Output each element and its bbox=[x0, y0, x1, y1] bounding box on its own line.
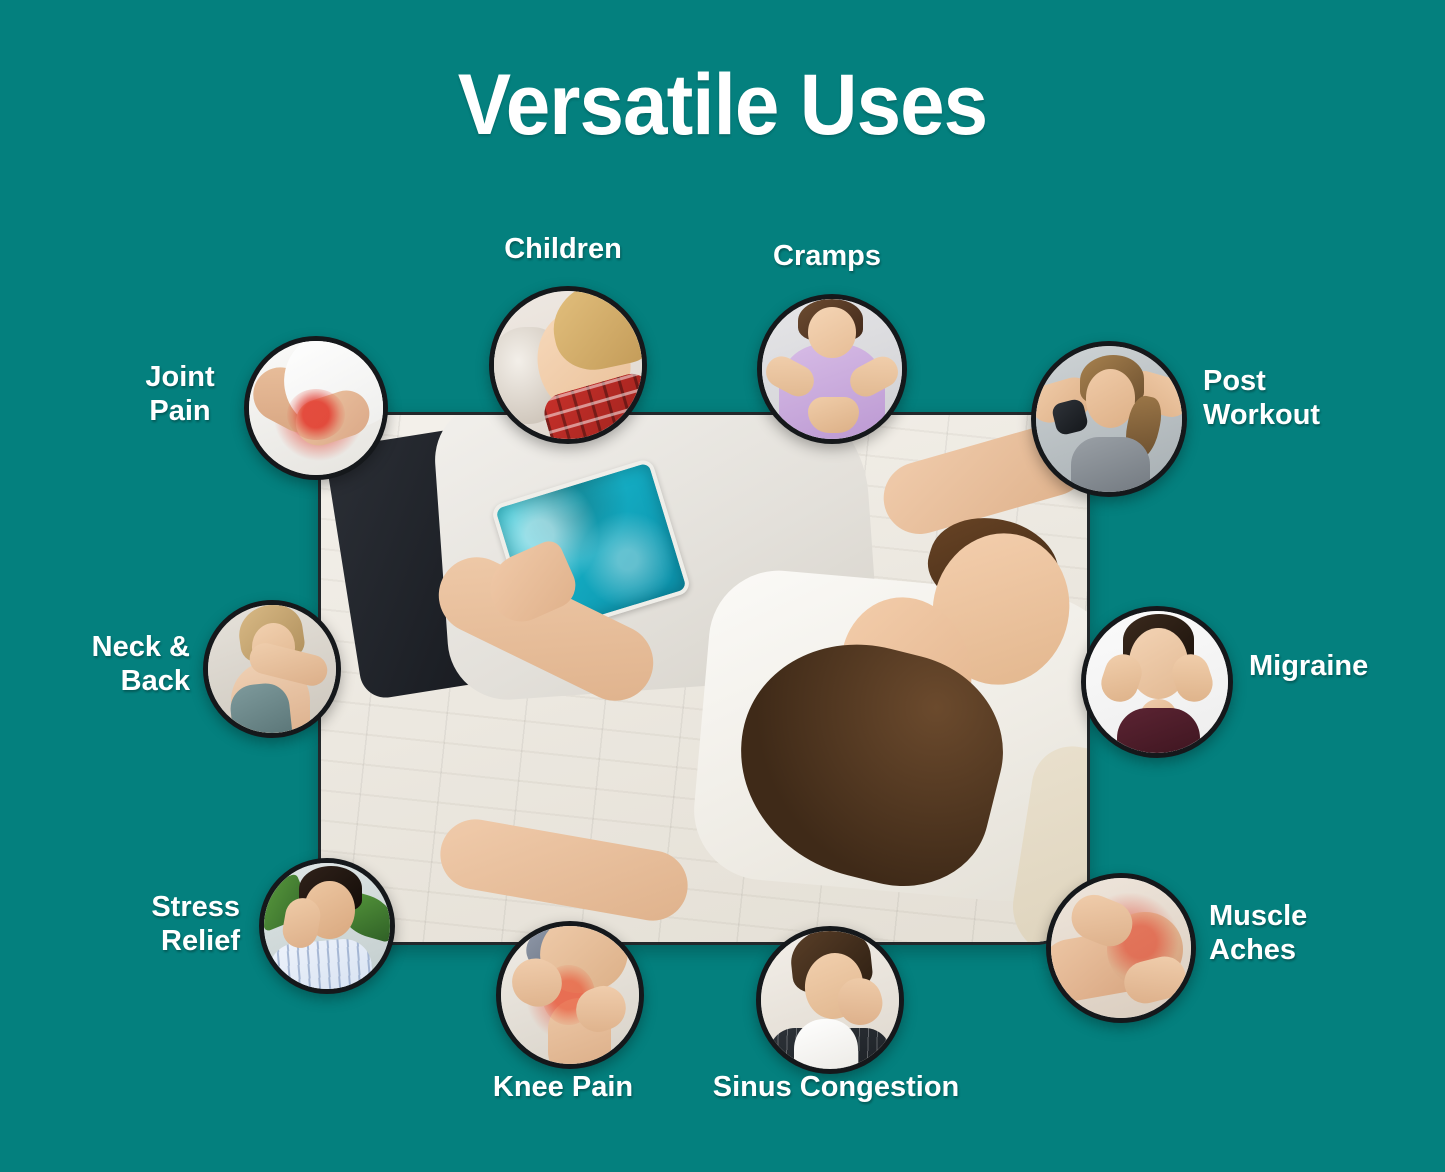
use-label-neck-back: Neck & Back bbox=[10, 630, 190, 698]
use-label-children: Children bbox=[433, 232, 693, 266]
use-label-sinus-congestion: Sinus Congestion bbox=[676, 1070, 996, 1104]
use-label-cramps: Cramps bbox=[707, 239, 947, 273]
use-circle-post-workout bbox=[1031, 341, 1187, 497]
muscle-aches-photo bbox=[1051, 878, 1191, 1018]
use-label-knee-pain: Knee Pain bbox=[443, 1070, 683, 1104]
use-label-joint-pain: Joint Pain bbox=[90, 360, 270, 428]
use-label-stress-relief: Stress Relief bbox=[35, 890, 240, 958]
use-circle-muscle-aches bbox=[1046, 873, 1196, 1023]
lifestyle-product-photo bbox=[318, 412, 1090, 945]
children-photo bbox=[494, 291, 642, 439]
use-label-post-workout: Post Workout bbox=[1203, 364, 1433, 432]
use-circle-children bbox=[489, 286, 647, 444]
use-circle-migraine bbox=[1081, 606, 1233, 758]
use-circle-stress-relief bbox=[259, 858, 395, 994]
infographic-canvas: Versatile Uses bbox=[0, 0, 1445, 1172]
cramps-photo bbox=[762, 299, 902, 439]
migraine-photo bbox=[1086, 611, 1228, 753]
use-circle-neck-back bbox=[203, 600, 341, 738]
post-workout-photo bbox=[1036, 346, 1182, 492]
neck-back-photo bbox=[208, 605, 336, 733]
stress-relief-photo bbox=[264, 863, 390, 989]
page-title: Versatile Uses bbox=[51, 62, 1395, 148]
sinus-congestion-photo bbox=[761, 931, 899, 1069]
use-label-migraine: Migraine bbox=[1249, 649, 1445, 683]
knee-pain-photo bbox=[501, 926, 639, 1064]
use-circle-sinus-congestion bbox=[756, 926, 904, 1074]
use-circle-knee-pain bbox=[496, 921, 644, 1069]
use-label-muscle-aches: Muscle Aches bbox=[1209, 899, 1429, 967]
use-circle-cramps bbox=[757, 294, 907, 444]
